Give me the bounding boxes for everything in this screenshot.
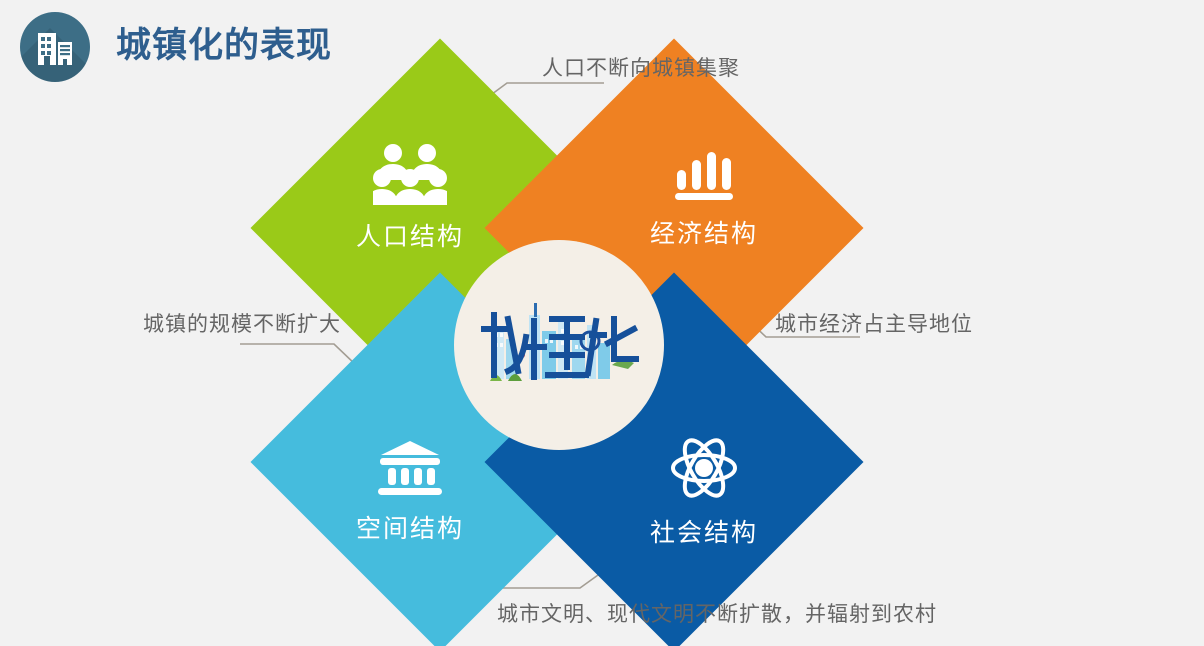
slide-canvas: 城镇化的表现 xyxy=(0,0,1204,646)
buildings-icon xyxy=(20,12,90,82)
quadrant-label-economy: 经济结构 xyxy=(650,214,758,250)
quadrant-label-society: 社会结构 xyxy=(650,513,758,549)
center-hub xyxy=(454,240,664,450)
callout-top: 人口不断向城镇集聚 xyxy=(542,52,740,82)
callout-bottom: 城市文明、现代文明不断扩散，并辐射到农村 xyxy=(497,598,937,628)
classical-building-icon xyxy=(375,439,445,497)
callout-right: 城市经济占主导地位 xyxy=(775,308,973,338)
callout-left: 城镇的规模不断扩大 xyxy=(143,308,341,338)
buildings-glyph xyxy=(36,29,76,67)
city-skyline-typography xyxy=(474,285,644,405)
quadrant-label-population: 人口结构 xyxy=(356,217,464,253)
atom-icon xyxy=(670,435,738,501)
bar-chart-icon xyxy=(673,146,735,202)
people-group-icon xyxy=(373,143,447,205)
quadrant-label-space: 空间结构 xyxy=(356,509,464,545)
